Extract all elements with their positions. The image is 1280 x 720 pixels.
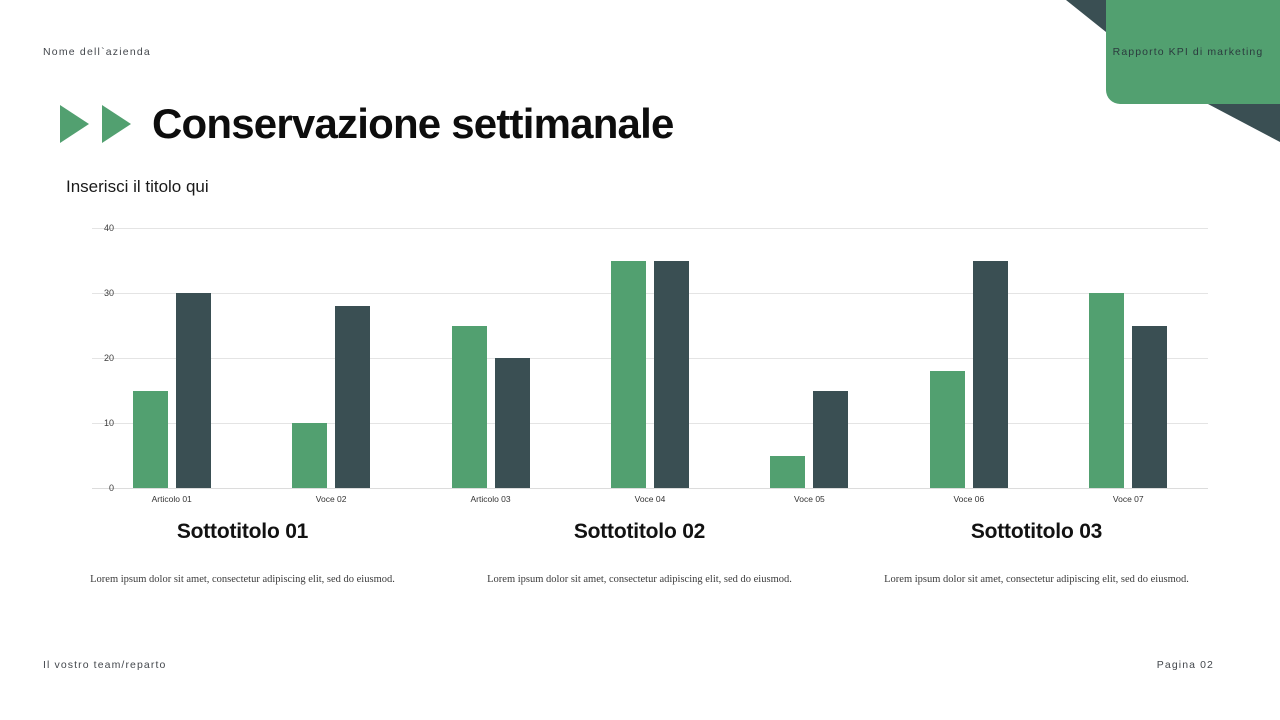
subtitle-columns: Sottotitolo 01Lorem ipsum dolor sit amet… — [0, 520, 1280, 585]
bar[interactable] — [813, 391, 848, 489]
bar-group — [1049, 228, 1208, 488]
play-triangle-icon — [102, 105, 131, 143]
bar-group — [730, 228, 889, 488]
kpi-badge: Rapporto KPI di marketing — [1040, 0, 1280, 140]
x-axis-tick-label: Voce 04 — [570, 494, 729, 504]
bar[interactable] — [973, 261, 1008, 489]
plot-area: 010203040 Articolo 01Voce 02Articolo 03V… — [92, 228, 1208, 488]
bar[interactable] — [930, 371, 965, 488]
bar-group — [889, 228, 1048, 488]
bar[interactable] — [292, 423, 327, 488]
column-body-text: Lorem ipsum dolor sit amet, consectetur … — [838, 574, 1235, 585]
bar[interactable] — [1132, 326, 1167, 489]
bar-chart: 010203040 Articolo 01Voce 02Articolo 03V… — [66, 228, 1208, 493]
badge-label: Rapporto KPI di marketing — [1106, 46, 1270, 58]
column-title: Sottotitolo 03 — [838, 520, 1235, 544]
bar[interactable] — [770, 456, 805, 489]
page-title: Conservazione settimanale — [152, 100, 674, 148]
bar[interactable] — [495, 358, 530, 488]
x-axis-tick-label: Articolo 03 — [411, 494, 570, 504]
bar-group — [251, 228, 410, 488]
x-axis-tick-label: Articolo 01 — [92, 494, 251, 504]
column-body-text: Lorem ipsum dolor sit amet, consectetur … — [441, 574, 838, 585]
bar[interactable] — [1089, 293, 1124, 488]
bar-group — [570, 228, 729, 488]
bar[interactable] — [654, 261, 689, 489]
bar-group — [411, 228, 570, 488]
title-row: Conservazione settimanale — [60, 100, 674, 148]
bar-group — [92, 228, 251, 488]
column-title: Sottotitolo 01 — [44, 520, 441, 544]
footer-team: Il vostro team/reparto — [43, 659, 166, 671]
column-body-text: Lorem ipsum dolor sit amet, consectetur … — [44, 574, 441, 585]
bar[interactable] — [133, 391, 168, 489]
bar-series-container — [92, 228, 1208, 488]
badge-corner-triangle-bottom-icon — [1208, 104, 1280, 142]
bar[interactable] — [611, 261, 646, 489]
play-triangle-icon — [60, 105, 89, 143]
company-name: Nome dell`azienda — [43, 46, 151, 58]
footer-page-number: Pagina 02 — [1157, 659, 1214, 671]
bar[interactable] — [176, 293, 211, 488]
chart-title: Inserisci il titolo qui — [66, 177, 209, 197]
x-axis-tick-label: Voce 07 — [1049, 494, 1208, 504]
x-axis-tick-label: Voce 02 — [251, 494, 410, 504]
bar[interactable] — [452, 326, 487, 489]
x-axis-tick-label: Voce 06 — [889, 494, 1048, 504]
subtitle-column: Sottotitolo 02Lorem ipsum dolor sit amet… — [441, 520, 838, 585]
gridline — [92, 488, 1208, 489]
subtitle-column: Sottotitolo 03Lorem ipsum dolor sit amet… — [838, 520, 1235, 585]
column-title: Sottotitolo 02 — [441, 520, 838, 544]
subtitle-column: Sottotitolo 01Lorem ipsum dolor sit amet… — [44, 520, 441, 585]
bar[interactable] — [335, 306, 370, 488]
x-axis-tick-label: Voce 05 — [730, 494, 889, 504]
slide: Rapporto KPI di marketing Nome dell`azie… — [0, 0, 1280, 720]
badge-corner-triangle-top-icon — [1066, 0, 1106, 32]
